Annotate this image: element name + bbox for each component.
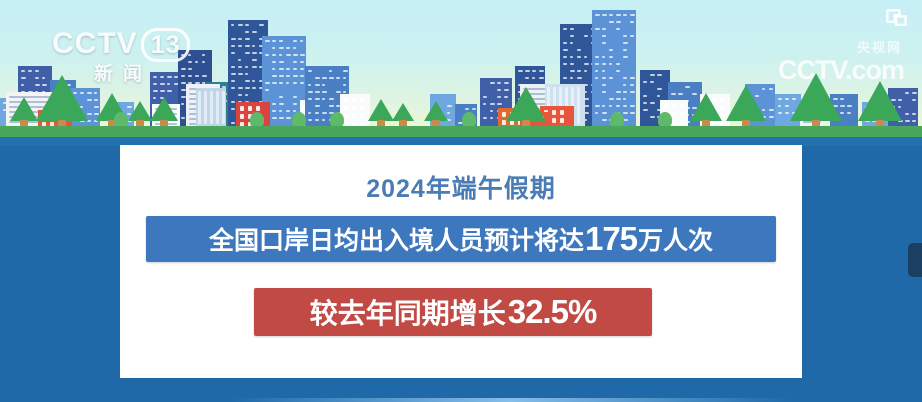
blue-band-text-after: 万人次 <box>638 221 713 257</box>
blue-band-figure: 175 <box>584 220 638 258</box>
tree <box>10 97 38 128</box>
blue-band-text-before: 全国口岸日均出入境人员预计将达 <box>209 221 584 257</box>
red-band-figure: 32.5% <box>506 293 597 331</box>
card-title: 2024年端午假期 <box>120 169 802 205</box>
multi-screen-icon[interactable] <box>886 9 908 27</box>
tree <box>506 87 546 128</box>
tree <box>424 101 448 128</box>
edge-control-chip[interactable] <box>908 243 922 277</box>
tree <box>858 81 902 128</box>
tree <box>690 93 722 128</box>
broadcast-frame: CCTV13 新闻 央视网 CCTV.com 2024年端午假期 全国口岸日均出… <box>0 0 922 402</box>
tree <box>392 103 414 128</box>
bottom-light-strip <box>230 398 790 402</box>
cctv-com-watermark: 央视网 CCTV.com <box>778 34 904 84</box>
watermark-cn-text: 央视网 <box>778 34 904 61</box>
tree <box>150 97 178 128</box>
tree <box>368 99 394 128</box>
statistic-band-red: 较去年同期增长32.5% <box>254 288 652 336</box>
red-band-text-before: 较去年同期增长 <box>310 292 506 332</box>
tree <box>726 85 766 128</box>
building <box>196 88 226 128</box>
info-card: 2024年端午假期 全国口岸日均出入境人员预计将达175万人次 较去年同期增长3… <box>120 145 802 378</box>
statistic-band-blue: 全国口岸日均出入境人员预计将达175万人次 <box>146 216 776 262</box>
building <box>592 10 636 128</box>
building <box>340 94 370 128</box>
tree <box>128 101 152 128</box>
tree <box>36 75 88 128</box>
